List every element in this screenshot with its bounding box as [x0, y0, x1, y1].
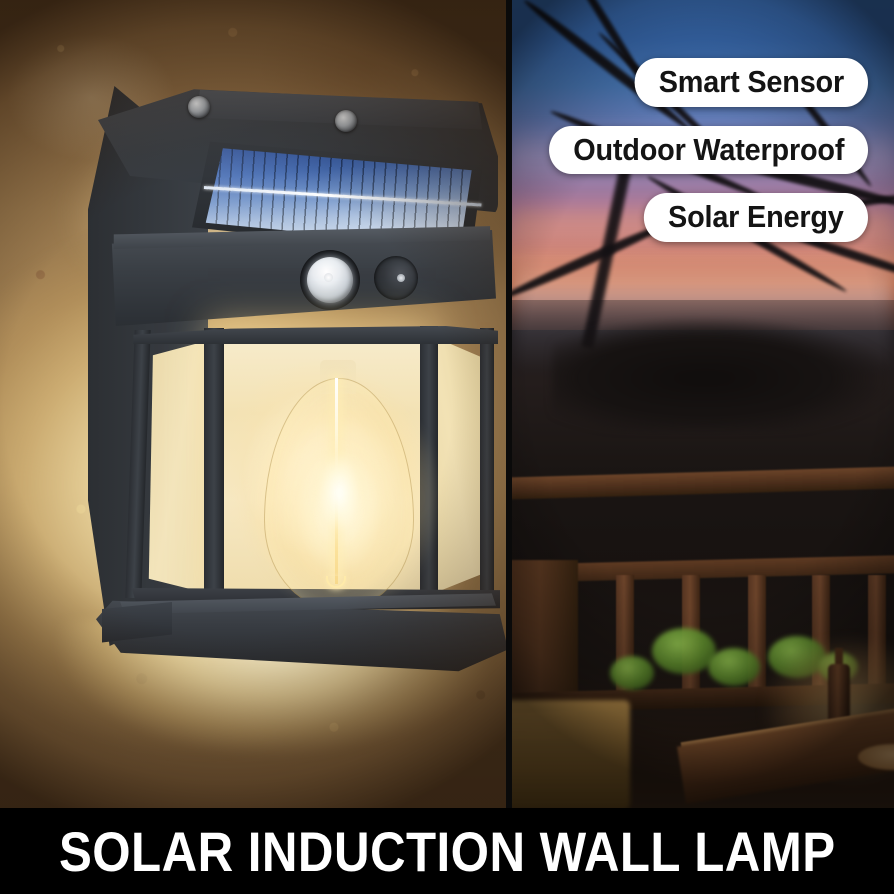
banner-title: SOLAR INDUCTION WALL LAMP — [59, 819, 836, 884]
left-panel-lamp-on-wall — [0, 0, 506, 808]
badge-smart-sensor: Smart Sensor — [634, 58, 868, 107]
badge-solar-energy: Solar Energy — [644, 193, 868, 242]
product-ad-image: Smart Sensor Outdoor Waterproof Solar En… — [0, 0, 894, 894]
feature-badge-list: Smart Sensor Outdoor Waterproof Solar En… — [525, 58, 868, 242]
badge-outdoor-waterproof: Outdoor Waterproof — [549, 126, 868, 175]
left-panel-vignette — [0, 0, 506, 808]
bottom-banner: SOLAR INDUCTION WALL LAMP — [0, 808, 894, 894]
right-panel-outdoor-scene: Smart Sensor Outdoor Waterproof Solar En… — [512, 0, 894, 808]
